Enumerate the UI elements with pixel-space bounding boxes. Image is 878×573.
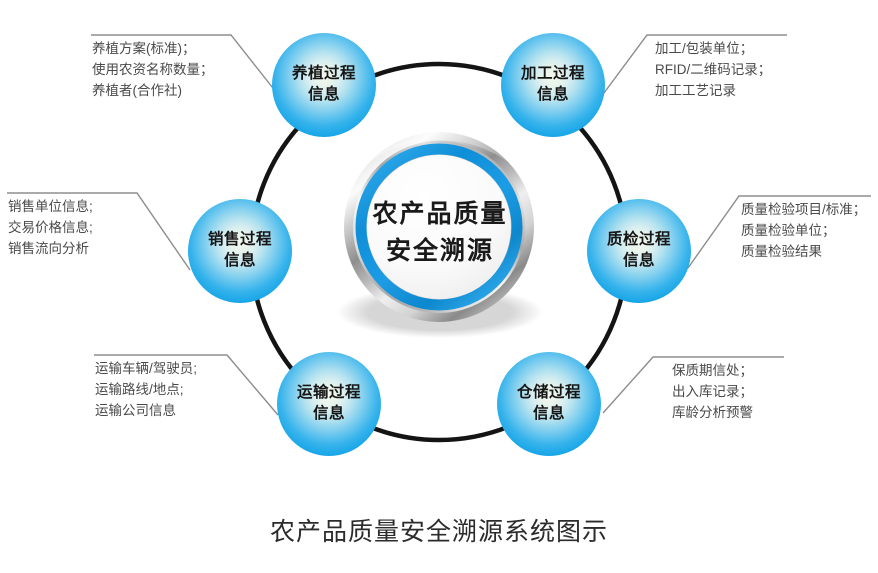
node-storage[interactable]: 仓储过程 信息 bbox=[497, 352, 601, 456]
node-processing[interactable]: 加工过程 信息 bbox=[501, 33, 605, 137]
callout-transport-line-1: 运输车辆/驾驶员; bbox=[95, 359, 197, 380]
callout-processing-line-2: RFID/二维码记录； bbox=[655, 60, 771, 81]
node-inspection[interactable]: 质检过程 信息 bbox=[587, 199, 691, 303]
node-sales-line-2: 信息 bbox=[224, 251, 256, 272]
node-processing-line-1: 加工过程 bbox=[521, 64, 585, 85]
center-emblem bbox=[337, 129, 543, 338]
diagram-canvas: 农产品质量 安全溯源 养植过程 信息 加工过程 信息 质检过程 信息 仓储过程 … bbox=[0, 0, 878, 573]
callout-inspection-line-2: 质量检验单位； bbox=[741, 221, 866, 242]
node-planting-line-2: 信息 bbox=[308, 85, 340, 106]
callout-storage: 保质期信处； 出入库记录； 库龄分析预警 bbox=[672, 361, 753, 424]
node-sales-line-1: 销售过程 bbox=[208, 230, 272, 251]
callout-processing: 加工/包装单位； RFID/二维码记录； 加工工艺记录 bbox=[655, 39, 771, 102]
node-processing-line-2: 信息 bbox=[537, 85, 569, 106]
callout-storage-line-2: 出入库记录； bbox=[672, 382, 753, 403]
callout-sales: 销售单位信息; 交易价格信息; 销售流向分析 bbox=[8, 197, 93, 260]
node-inspection-line-1: 质检过程 bbox=[607, 230, 671, 251]
callout-processing-line-1: 加工/包装单位； bbox=[655, 39, 771, 60]
figure-caption: 农产品质量安全溯源系统图示 bbox=[0, 512, 878, 548]
node-sales[interactable]: 销售过程 信息 bbox=[188, 199, 292, 303]
callout-transport-line-3: 运输公司信息 bbox=[95, 401, 197, 422]
callout-sales-line-2: 交易价格信息; bbox=[8, 218, 93, 239]
callout-planting-line-2: 使用农资名称数量； bbox=[92, 60, 214, 81]
callout-planting-line-1: 养植方案(标准)； bbox=[92, 39, 214, 60]
callout-planting-line-3: 养植者(合作社) bbox=[92, 81, 214, 102]
node-transport-line-1: 运输过程 bbox=[297, 383, 361, 404]
callout-storage-line-1: 保质期信处； bbox=[672, 361, 753, 382]
callout-storage-line-3: 库龄分析预警 bbox=[672, 403, 753, 424]
callout-sales-line-3: 销售流向分析 bbox=[8, 239, 93, 260]
callout-inspection-line-3: 质量检验结果 bbox=[741, 242, 866, 263]
node-planting-line-1: 养植过程 bbox=[292, 64, 356, 85]
callout-transport-line-2: 运输路线/地点; bbox=[95, 380, 197, 401]
node-transport-line-2: 信息 bbox=[313, 404, 345, 425]
callout-processing-line-3: 加工工艺记录 bbox=[655, 81, 771, 102]
node-storage-line-1: 仓储过程 bbox=[517, 383, 581, 404]
callout-sales-line-1: 销售单位信息; bbox=[8, 197, 93, 218]
node-planting[interactable]: 养植过程 信息 bbox=[272, 33, 376, 137]
callout-transport: 运输车辆/驾驶员; 运输路线/地点; 运输公司信息 bbox=[95, 359, 197, 422]
callout-planting: 养植方案(标准)； 使用农资名称数量； 养植者(合作社) bbox=[92, 39, 214, 102]
node-transport[interactable]: 运输过程 信息 bbox=[277, 352, 381, 456]
callout-inspection-line-1: 质量检验项目/标准； bbox=[741, 200, 866, 221]
callout-inspection: 质量检验项目/标准； 质量检验单位； 质量检验结果 bbox=[741, 200, 866, 263]
node-inspection-line-2: 信息 bbox=[623, 251, 655, 272]
node-storage-line-2: 信息 bbox=[533, 404, 565, 425]
